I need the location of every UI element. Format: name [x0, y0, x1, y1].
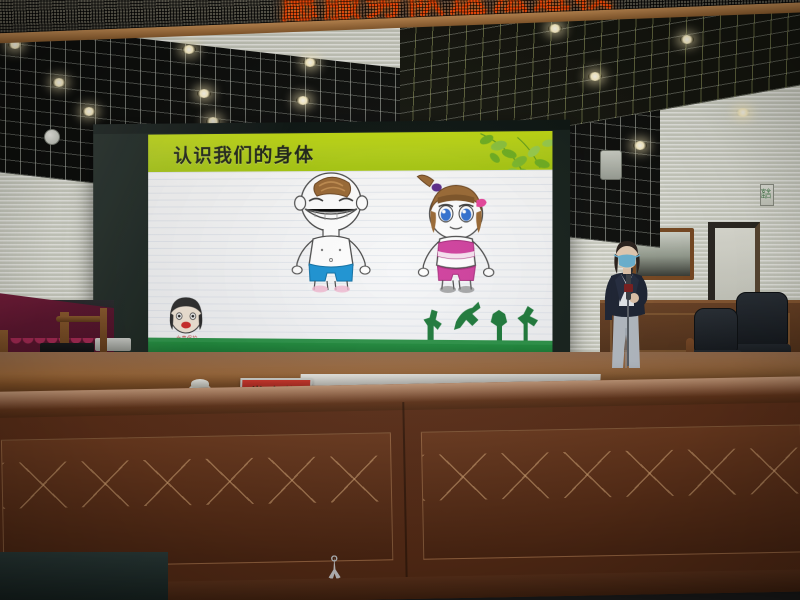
- auditorium-photo: 安全出口 愿服务队送法进校 认识我们的身体: [0, 0, 800, 600]
- chair-backrest: [736, 292, 788, 346]
- ceiling-downlight-icon: [588, 72, 602, 81]
- wood-chair-rail: [56, 316, 102, 322]
- ceiling-downlight-icon: [82, 107, 96, 116]
- ceiling-downlight-icon: [52, 78, 66, 87]
- running-children-silhouettes: [421, 299, 544, 342]
- projection-screen: 认识我们的身体: [93, 120, 570, 368]
- ceiling-downlight-icon: [303, 58, 317, 67]
- presenter-figure: [596, 236, 658, 370]
- presentation-slide: 认识我们的身体: [148, 131, 552, 361]
- barrier-vertical-seam: [402, 402, 408, 592]
- ceiling-downlight-icon: [736, 108, 750, 117]
- exit-sign-icon: 安全出口: [760, 184, 774, 206]
- ceiling-downlight-icon: [680, 35, 694, 44]
- ceiling-downlight-icon: [197, 89, 211, 98]
- wood-chair-frame: [100, 308, 107, 354]
- girl-protection-logo-icon: [164, 294, 209, 338]
- chair-backrest: [694, 308, 738, 352]
- barrier-diamond-inlay: [422, 447, 800, 500]
- ceiling-downlight-icon: [633, 141, 647, 150]
- ceiling-downlight-icon: [548, 24, 562, 33]
- barrier-panel-right: [421, 424, 800, 559]
- cartoon-boy-illustration: [283, 169, 379, 294]
- barrier-panel-left: [1, 432, 393, 567]
- ceiling-downlight-icon: [182, 45, 196, 54]
- foreground-dark-object: [0, 552, 168, 600]
- security-camera-icon: [44, 129, 60, 145]
- teacup-lid: [191, 379, 209, 388]
- ceiling-downlight-icon: [296, 96, 310, 105]
- wall-speaker: [600, 150, 622, 180]
- slide-title: 认识我们的身体: [173, 140, 314, 168]
- barrier-diamond-inlay: [2, 455, 391, 508]
- cartoon-girl-illustration: [407, 170, 501, 294]
